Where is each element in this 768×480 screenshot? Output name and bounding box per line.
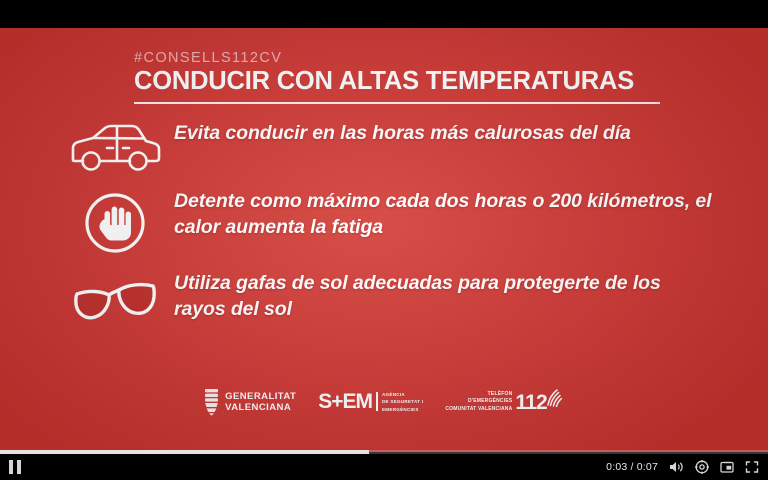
t112-sub-line-3: COMUNITAT VALENCIANA xyxy=(445,406,512,414)
stop-hand-icon xyxy=(56,188,174,254)
car-icon xyxy=(56,120,174,174)
logo-divider xyxy=(376,392,378,411)
list-item-label: Detente como máximo cada dos horas o 200… xyxy=(174,188,716,241)
fullscreen-button[interactable] xyxy=(745,460,759,474)
list-item-label: Evita conducir en las horas más calurosa… xyxy=(174,120,716,146)
miniplayer-button[interactable] xyxy=(720,460,734,474)
fullscreen-icon xyxy=(745,460,759,474)
logo-strip: GENERALITAT VALENCIANA S+EM AGÈNCIA DE S… xyxy=(0,388,768,416)
list-item: Detente como máximo cada dos horas o 200… xyxy=(56,188,716,254)
pause-button[interactable] xyxy=(9,460,21,474)
list-item: Evita conducir en las horas más calurosa… xyxy=(56,120,716,174)
pause-icon xyxy=(9,460,21,474)
t112-subtitle: TELÉFON D'EMERGÈNCIES COMUNITAT VALENCIA… xyxy=(445,391,512,414)
sem-subtitle: AGÈNCIA DE SEGURETAT I EMERGÈNCIES xyxy=(382,391,423,412)
sunglasses-icon xyxy=(56,270,174,324)
sem-sub-line-2: DE SEGURETAT I xyxy=(382,398,423,405)
sem-sub-line-3: EMERGÈNCIES xyxy=(382,406,423,413)
slide-header: #CONSELLS112CV CONDUCIR CON ALTAS TEMPER… xyxy=(134,50,662,104)
page-title: CONDUCIR CON ALTAS TEMPERATURAS xyxy=(134,67,662,96)
sem-sub-line-1: AGÈNCIA xyxy=(382,391,423,398)
title-divider xyxy=(134,102,660,104)
generalitat-valenciana-logo: GENERALITAT VALENCIANA xyxy=(204,388,296,416)
gear-icon xyxy=(695,460,709,474)
sem-logo: S+EM AGÈNCIA DE SEGURETAT I EMERGÈNCIES xyxy=(318,391,423,412)
video-stage[interactable]: #CONSELLS112CV CONDUCIR CON ALTAS TEMPER… xyxy=(0,28,768,452)
tips-list: Evita conducir en las horas más calurosa… xyxy=(56,120,716,324)
logo-line-2: VALENCIANA xyxy=(225,402,296,413)
sem-wordmark: S+EM xyxy=(318,391,372,412)
t112-sub-line-2: D'EMERGÈNCIES xyxy=(445,398,512,406)
logo-text: GENERALITAT VALENCIANA xyxy=(225,391,296,413)
volume-button[interactable] xyxy=(669,460,684,474)
signal-waves-icon xyxy=(546,388,564,408)
campaign-hashtag: #CONSELLS112CV xyxy=(134,50,662,66)
logo-line-1: GENERALITAT xyxy=(225,391,296,402)
time-display: 0:03 / 0:07 xyxy=(606,461,658,473)
t112-number: 112 xyxy=(515,392,546,413)
telefono-112-logo: TELÉFON D'EMERGÈNCIES COMUNITAT VALENCIA… xyxy=(445,388,564,416)
player-controls[interactable]: 0:03 / 0:07 xyxy=(0,454,768,480)
list-item: Utiliza gafas de sol adecuadas para prot… xyxy=(56,270,716,324)
list-item-label: Utiliza gafas de sol adecuadas para prot… xyxy=(174,270,716,323)
video-player[interactable]: #CONSELLS112CV CONDUCIR CON ALTAS TEMPER… xyxy=(0,0,768,480)
miniplayer-icon xyxy=(720,460,734,474)
volume-high-icon xyxy=(669,460,684,474)
settings-button[interactable] xyxy=(695,460,709,474)
generalitat-shield-icon xyxy=(204,388,220,416)
